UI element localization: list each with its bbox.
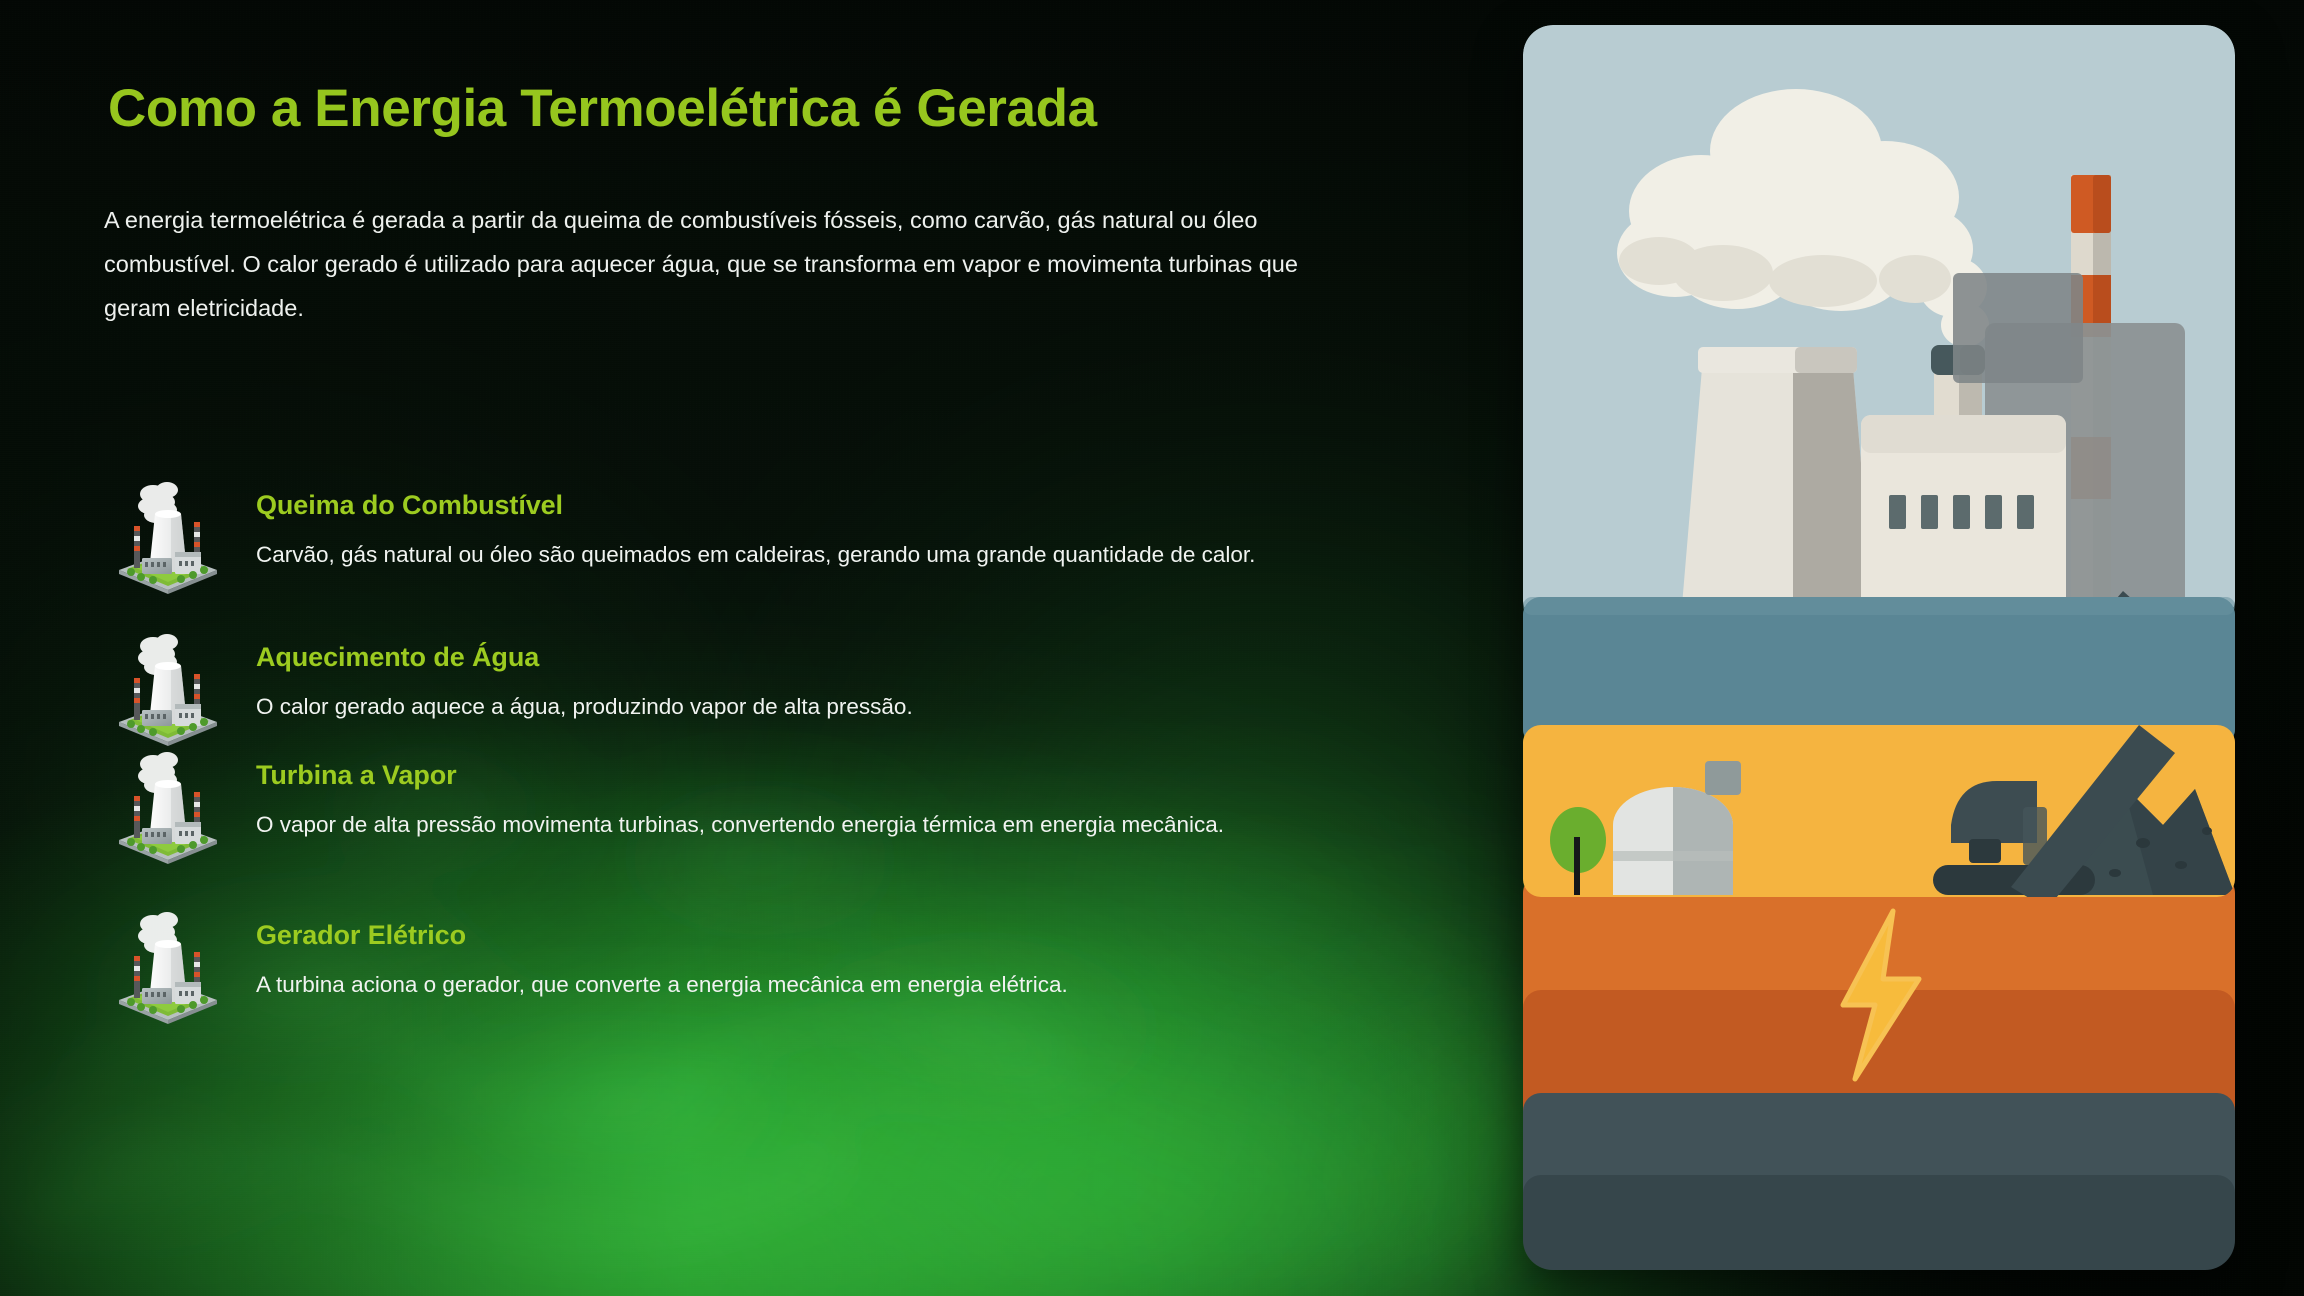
page-title: Como a Energia Termoelétrica é Gerada [108, 80, 1097, 138]
power-plant-icon [104, 750, 232, 862]
power-plant-icon-graphic [109, 912, 227, 1024]
lightning-bolt-icon [1823, 905, 1943, 1085]
power-plant-icon-graphic [109, 482, 227, 594]
step-description: A turbina aciona o gerador, que converte… [256, 965, 1286, 1005]
step-body: Aquecimento de Água O calor gerado aquec… [232, 632, 1404, 727]
list-item[interactable]: Aquecimento de Água O calor gerado aquec… [104, 632, 1404, 750]
step-title: Aquecimento de Água [256, 642, 1404, 673]
step-description: O calor gerado aquece a água, produzindo… [256, 687, 1286, 727]
list-item[interactable]: Queima do Combustível Carvão, gás natura… [104, 480, 1404, 632]
content-column: Como a Energia Termoelétrica é Gerada A … [0, 0, 1470, 1296]
steps-list: Queima do Combustível Carvão, gás natura… [104, 480, 1404, 1028]
step-body: Gerador Elétrico A turbina aciona o gera… [232, 910, 1404, 1005]
step-title: Turbina a Vapor [256, 760, 1404, 791]
power-plant-icon-graphic [109, 634, 227, 746]
step-description: Carvão, gás natural ou óleo são queimado… [256, 535, 1286, 575]
power-plant-icon [104, 910, 232, 1022]
list-item[interactable]: Turbina a Vapor O vapor de alta pressão … [104, 750, 1404, 910]
list-item[interactable]: Gerador Elétrico A turbina aciona o gera… [104, 910, 1404, 1028]
power-plant-icon-graphic [109, 752, 227, 864]
step-body: Queima do Combustível Carvão, gás natura… [232, 480, 1404, 575]
step-title: Queima do Combustível [256, 490, 1404, 521]
step-body: Turbina a Vapor O vapor de alta pressão … [232, 750, 1404, 845]
intro-paragraph: A energia termoelétrica é gerada a parti… [104, 198, 1334, 331]
step-title: Gerador Elétrico [256, 920, 1404, 951]
thermoelectric-plant-illustration [1523, 25, 2235, 1270]
power-plant-icon [104, 480, 232, 592]
step-description: O vapor de alta pressão movimenta turbin… [256, 805, 1286, 845]
power-plant-icon [104, 632, 232, 744]
